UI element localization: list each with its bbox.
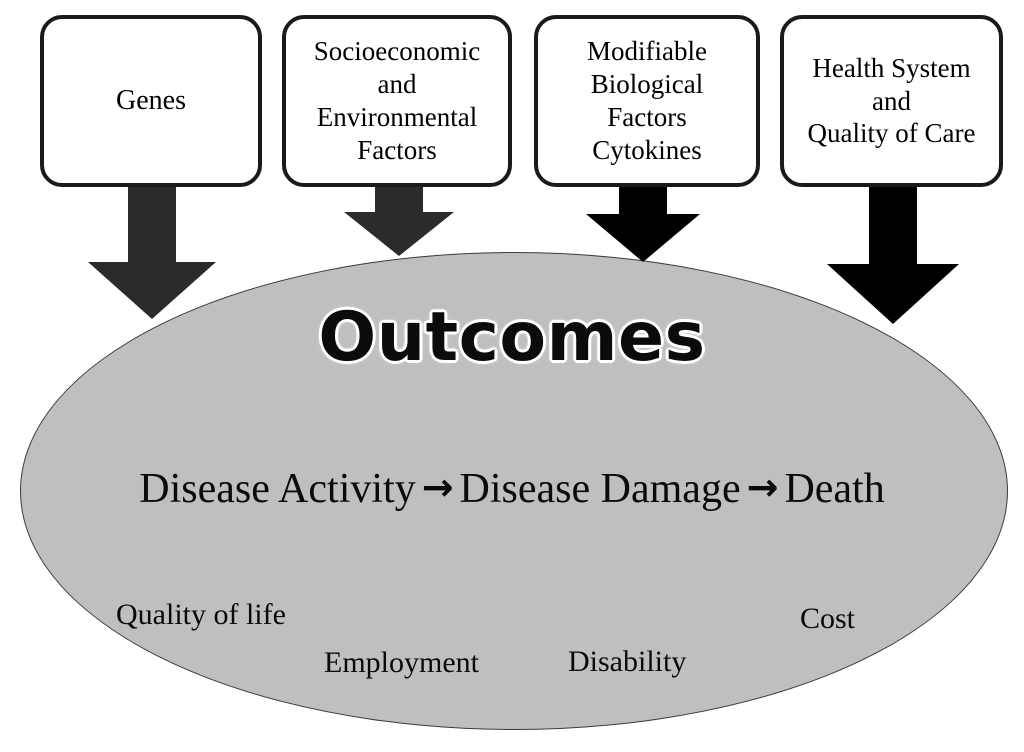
factor-box-modifiable-biological-label: Modifiable Biological Factors Cytokines: [579, 35, 715, 167]
factor-box-socioeconomic: Socioeconomic and Environmental Factors: [282, 15, 512, 187]
factor-box-modifiable-biological: Modifiable Biological Factors Cytokines: [534, 15, 760, 187]
outcome-tag-employment: Employment: [324, 646, 479, 680]
arrow-down-icon-modifiable-biological: [574, 184, 714, 262]
progression-step-disease-damage: Disease Damage: [460, 466, 741, 512]
outcome-tag-disability: Disability: [568, 645, 686, 679]
diagram-canvas: Genes Socioeconomic and Environmental Fa…: [0, 0, 1024, 752]
outcome-tag-cost: Cost: [800, 602, 855, 636]
arrow-down-icon-socioeconomic: [330, 184, 470, 256]
factor-box-health-system-label: Health System and Quality of Care: [800, 52, 984, 151]
arrow-right-icon-1: →: [416, 465, 460, 509]
arrow-right-icon-2: →: [741, 465, 785, 509]
arrow-down-icon-health-system: [812, 184, 992, 324]
arrow-down-icon-genes: [58, 184, 258, 319]
factor-box-genes-label: Genes: [108, 84, 194, 118]
outcome-tag-quality-of-life: Quality of life: [116, 598, 286, 632]
factor-box-health-system: Health System and Quality of Care: [780, 15, 1003, 187]
factor-box-socioeconomic-label: Socioeconomic and Environmental Factors: [306, 35, 488, 167]
progression-step-disease-activity: Disease Activity: [139, 466, 415, 512]
factor-box-genes: Genes: [40, 15, 262, 187]
progression-step-death: Death: [784, 466, 884, 512]
disease-progression-line: Disease Activity→Disease Damage→Death: [0, 465, 1024, 513]
